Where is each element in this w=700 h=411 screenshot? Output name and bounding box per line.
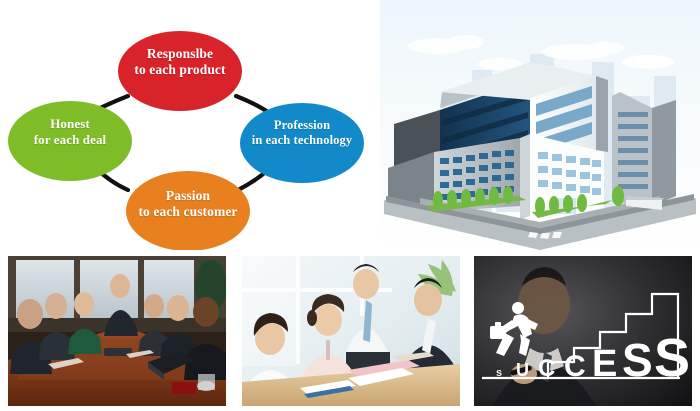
photo-success-stairs[interactable]: Businessman drawing a staircase spelling… <box>474 256 692 406</box>
cycle-node-honest[interactable] <box>8 101 132 181</box>
red-folder <box>172 382 196 394</box>
cycle-diagram-graphic <box>0 0 380 250</box>
cycle-node-passion[interactable] <box>126 171 250 250</box>
baseline <box>482 377 680 379</box>
collage-canvas: Responslbe to each product Honest for ea… <box>0 0 700 411</box>
office-building-graphic <box>380 0 700 252</box>
photo-office-team-discussion-graphic <box>242 256 460 406</box>
photo-office-team-discussion[interactable]: Young office workers discussing document… <box>242 256 460 406</box>
office-building-illustration: 3D illustration of a modern blue glass o… <box>380 0 700 252</box>
cycle-node-responsible[interactable] <box>118 31 242 111</box>
cycle-node-profession[interactable] <box>240 103 364 183</box>
core-values-cycle-diagram: Responslbe to each product Honest for ea… <box>0 0 380 250</box>
photo-success-stairs-graphic: s U C C E S S <box>474 256 692 406</box>
photo-boardroom-meeting[interactable]: Business people seated around a long woo… <box>8 256 226 406</box>
photo-row: Business people seated around a long woo… <box>0 256 700 408</box>
photo-boardroom-meeting-graphic <box>8 256 226 406</box>
